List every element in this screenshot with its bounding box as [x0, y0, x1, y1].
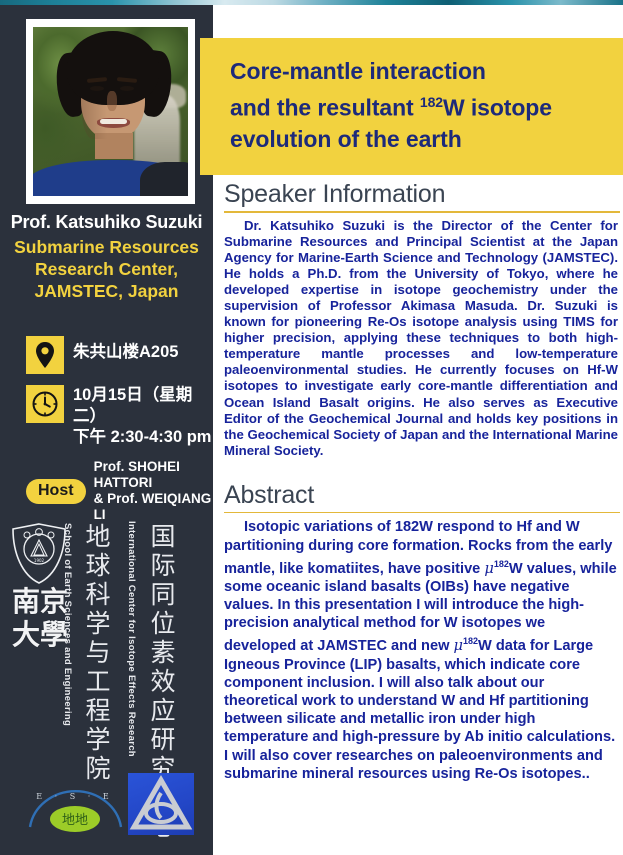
- top-accent-strip: [0, 0, 623, 5]
- title-line-3: evolution of the earth: [230, 126, 462, 152]
- speaker-info-divider: [224, 211, 620, 213]
- speaker-bio-body: Dr. Katsuhiko Suzuki is the Director of …: [224, 218, 618, 458]
- abstract-sup-1: 182: [494, 559, 509, 569]
- photo-eye-right: [120, 86, 134, 91]
- abstract-text: Isotopic variations of 182W respond to H…: [224, 518, 618, 783]
- nju-calligraphy: 南京大學: [12, 585, 68, 651]
- center-name-en: International Center for Isotope Effects…: [126, 521, 137, 753]
- time-row: 10月15日（星期二） 下午 2:30-4:30 pm: [26, 385, 213, 448]
- svg-text:E · S · E: E · S · E: [36, 792, 113, 801]
- host-row: Host Prof. SHOHEI HATTORI & Prof. WEIQIA…: [26, 459, 213, 523]
- clock-icon: [26, 385, 64, 423]
- speaker-bio-text: Dr. Katsuhiko Suzuki is the Director of …: [224, 218, 618, 459]
- poster-title: Core-mantle interaction and the resultan…: [230, 56, 612, 155]
- map-pin-icon: [26, 336, 64, 374]
- title-line-2a: and the resultant: [230, 95, 420, 121]
- ese-arc-logo-icon: E · S · E 地地: [28, 777, 123, 835]
- datetime-text: 10月15日（星期二） 下午 2:30-4:30 pm: [73, 385, 213, 448]
- speaker-affiliation: Submarine Resources Research Center, JAM…: [6, 236, 207, 302]
- svg-text:1902: 1902: [34, 558, 45, 563]
- abstract-mu-1: μ: [484, 560, 494, 577]
- school-name-en: School of Earth Sciences and Engineering: [62, 523, 73, 751]
- blue-triangle-logo-icon: [128, 773, 194, 835]
- seminar-poster: Prof. Katsuhiko Suzuki Submarine Resourc…: [0, 0, 623, 855]
- abstract-part-3: W data for Large Igneous Province (LIP) …: [224, 638, 615, 781]
- location-row: 朱共山楼A205: [26, 336, 213, 374]
- main-content: Speaker Information Dr. Katsuhiko Suzuki…: [222, 180, 620, 783]
- center-name-cn: 国际同位素效应研究中心: [143, 523, 179, 755]
- event-time: 下午 2:30-4:30 pm: [73, 427, 213, 448]
- abstract-heading: Abstract: [224, 481, 620, 510]
- abstract-sup-2: 182: [463, 636, 478, 646]
- title-line-2b: W isotope: [443, 95, 552, 121]
- svg-text:地地: 地地: [62, 813, 88, 828]
- location-text: 朱共山楼A205: [73, 336, 178, 363]
- abstract-mu-2: μ: [454, 637, 464, 654]
- speaker-info-heading: Speaker Information: [224, 180, 620, 209]
- photo-nose: [107, 91, 117, 111]
- abstract-divider: [224, 512, 620, 514]
- photo-shoulder-strap: [140, 162, 188, 196]
- host-badge: Host: [26, 479, 86, 504]
- branding-block: 1902 南京大學 School of Earth Sciences and E…: [0, 515, 213, 855]
- host-name-1: Prof. SHOHEI HATTORI: [94, 459, 213, 491]
- title-line-1: Core-mantle interaction: [230, 58, 486, 84]
- host-names: Prof. SHOHEI HATTORI & Prof. WEIQIANG LI: [94, 459, 213, 523]
- school-name-cn: 地球科学与工程学院: [78, 523, 114, 755]
- photo-teeth: [100, 119, 127, 124]
- event-details: 朱共山楼A205 10月15日（星期二） 下午 2:30-4:30 pm: [26, 336, 213, 523]
- photo-eye-left: [90, 86, 104, 91]
- event-date: 10月15日（星期二）: [73, 385, 213, 427]
- speaker-photo-frame: [26, 19, 195, 204]
- nanjing-university-crest-icon: 1902: [10, 523, 68, 585]
- abstract-section: Abstract Isotopic variations of 182W res…: [222, 481, 620, 783]
- title-superscript: 182: [420, 94, 443, 110]
- speaker-name: Prof. Katsuhiko Suzuki: [0, 212, 213, 233]
- speaker-portrait-photo: [33, 27, 188, 196]
